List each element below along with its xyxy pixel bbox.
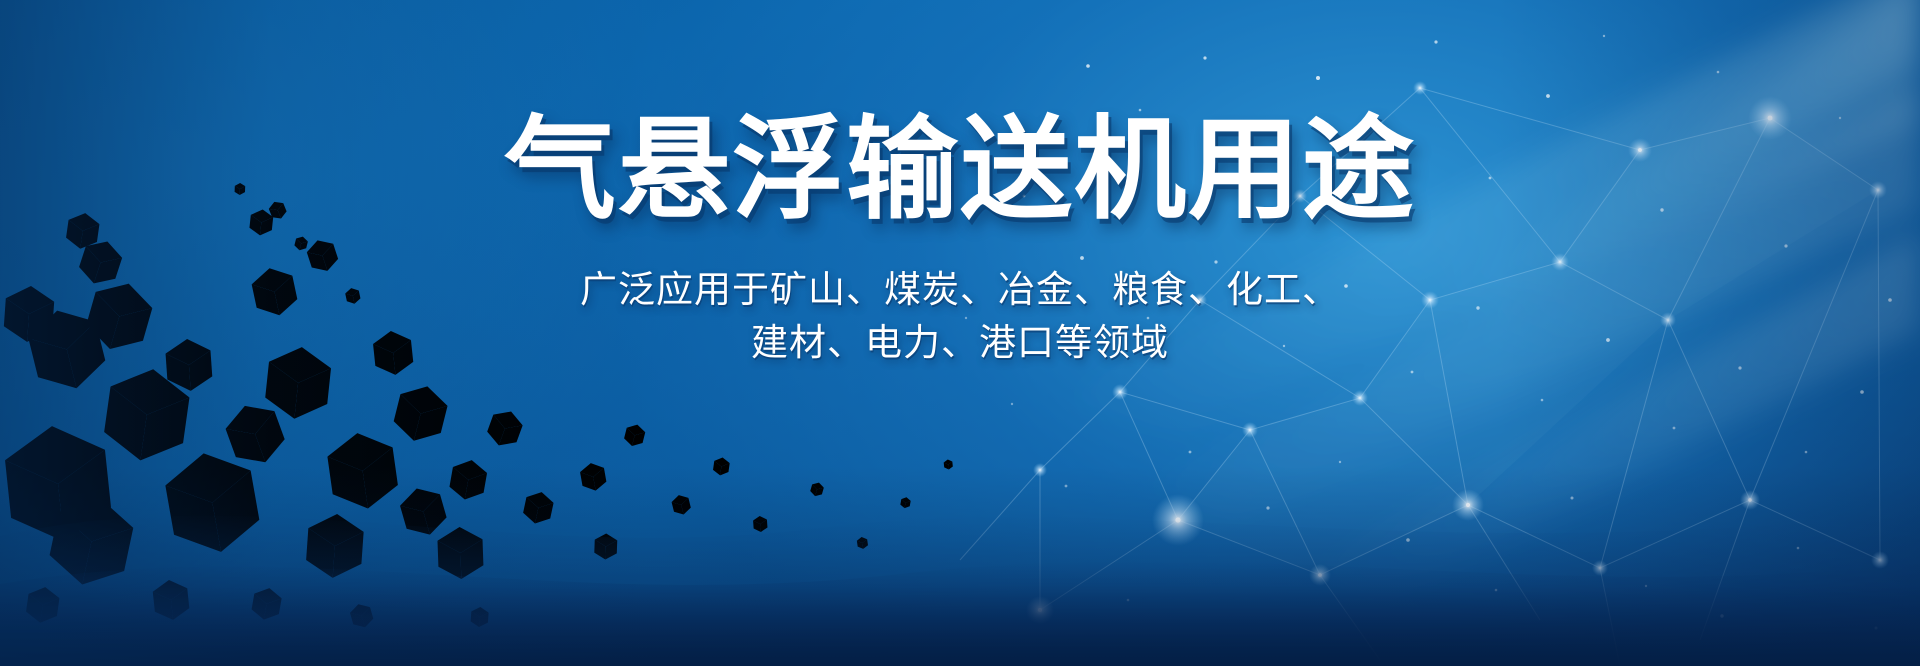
banner-subtitle-line-2: 建材、电力、港口等领域 [0, 317, 1920, 370]
banner-subtitle-line-1: 广泛应用于矿山、煤炭、冶金、粮食、化工、 [0, 264, 1920, 317]
bottom-wave-decoration [0, 416, 1920, 666]
banner-content: 气悬浮输送机用途 广泛应用于矿山、煤炭、冶金、粮食、化工、 建材、电力、港口等领… [0, 112, 1920, 370]
banner-subtitle: 广泛应用于矿山、煤炭、冶金、粮食、化工、 建材、电力、港口等领域 [0, 264, 1920, 369]
page-title: 气悬浮输送机用途 [0, 112, 1920, 228]
hero-banner: .cube .f-top { fill: #cfe6f6; } .cube .f… [0, 0, 1920, 666]
